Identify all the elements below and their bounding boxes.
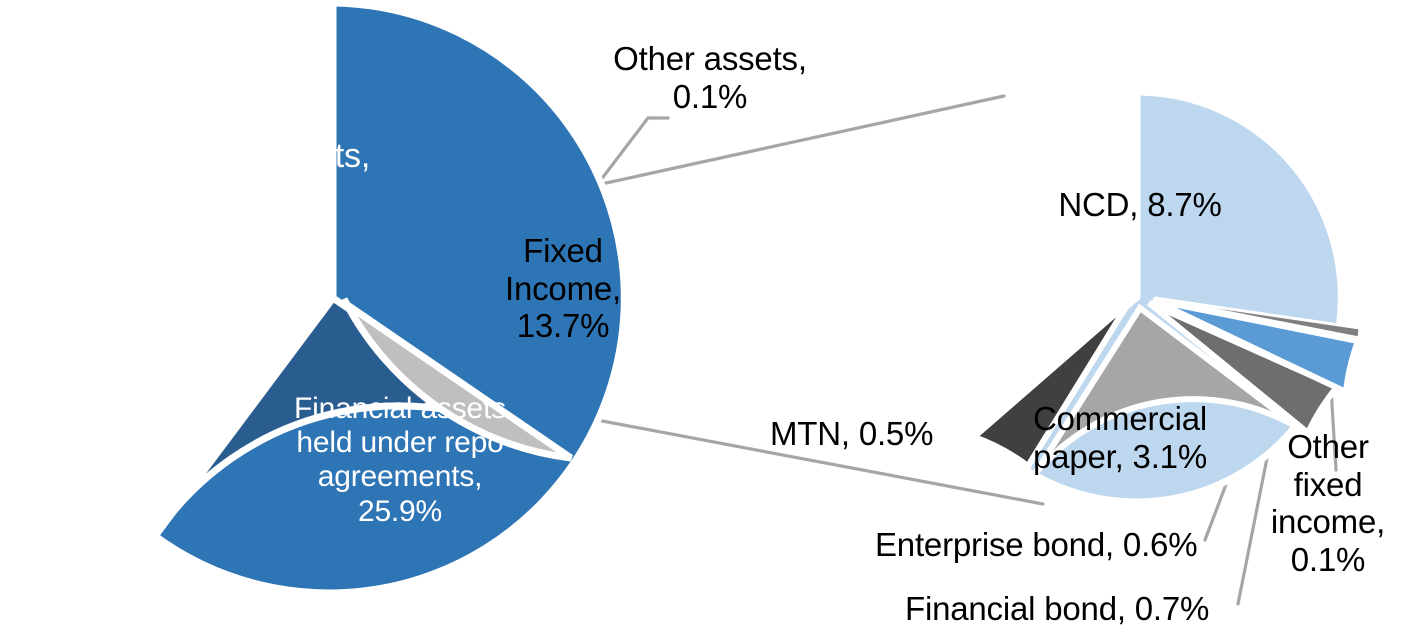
connector-other-assets bbox=[597, 118, 668, 185]
label-ncd: NCD, 8.7% bbox=[1000, 186, 1280, 224]
label-commercial-paper: Commercial paper, 3.1% bbox=[1000, 400, 1240, 475]
label-other-assets: Other assets, 0.1% bbox=[580, 40, 840, 115]
chart-canvas: Bank deposits, 60.3% Financial assets he… bbox=[0, 0, 1404, 644]
label-bank-deposits: Bank deposits, 60.3% bbox=[115, 137, 405, 215]
label-enterprise-bond: Enterprise bond, 0.6% bbox=[875, 526, 1245, 564]
label-financial-bond: Financial bond, 0.7% bbox=[905, 590, 1265, 628]
label-fixed-income: Fixed Income, 13.7% bbox=[468, 232, 658, 345]
label-repo-agreements: Financial assets held under repo agreeme… bbox=[250, 392, 550, 529]
label-other-fixed-income: Other fixed income, 0.1% bbox=[1258, 428, 1398, 578]
label-mtn: MTN, 0.5% bbox=[770, 415, 1010, 453]
